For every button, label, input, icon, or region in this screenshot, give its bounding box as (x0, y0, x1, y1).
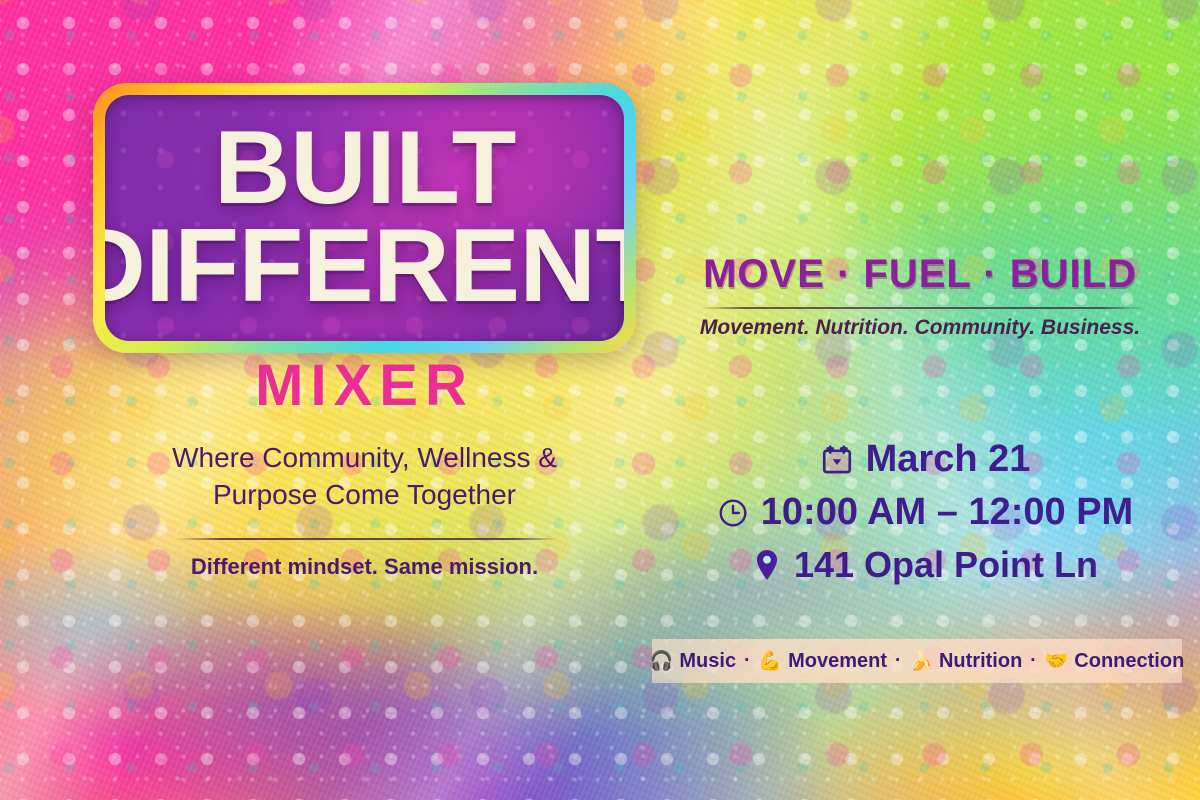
feature-label-music: Music (679, 650, 736, 673)
calendar-icon (820, 443, 854, 477)
flexed-bicep-icon: 💪 (758, 652, 782, 671)
headphones-icon: 🎧 (650, 652, 674, 671)
clock-icon (717, 497, 749, 529)
feature-label-nutrition: Nutrition (939, 650, 1022, 673)
left-subheading: Where Community, Wellness & Purpose Come… (93, 440, 636, 514)
detail-date-text: March 21 (866, 438, 1031, 481)
event-details: March 21 10:00 AM – 12:00 PM (690, 438, 1160, 586)
feature-separator-2: · (894, 650, 902, 672)
feature-bar: 🎧 Music · 💪 Movement · 🍌 Nutrition · 🤝 C… (652, 639, 1182, 683)
mixer-title: MIXER (93, 352, 636, 419)
feature-separator-1: · (743, 650, 751, 672)
right-divider (700, 307, 1146, 309)
detail-time-text: 10:00 AM – 12:00 PM (761, 491, 1133, 534)
feature-item-music: 🎧 Music (650, 650, 736, 673)
location-pin-icon (752, 548, 782, 582)
detail-row-location: 141 Opal Point Ln (752, 544, 1098, 586)
logo-badge-panel: BUILT DIFFERENT (105, 95, 624, 341)
detail-row-time: 10:00 AM – 12:00 PM (717, 491, 1133, 534)
feature-item-movement: 💪 Movement (758, 650, 887, 673)
badge-title-line-2: DIFFERENT (105, 219, 624, 315)
feature-item-connection: 🤝 Connection (1045, 650, 1185, 673)
badge-title-line-1: BUILT (214, 121, 516, 217)
left-subheading-line-2: Purpose Come Together (93, 477, 636, 514)
flyer-content: BUILT DIFFERENT MIXER Where Community, W… (0, 0, 1200, 800)
left-divider (176, 538, 558, 540)
feature-item-nutrition: 🍌 Nutrition (909, 650, 1022, 673)
detail-location-text: 141 Opal Point Ln (794, 544, 1098, 586)
banana-icon: 🍌 (909, 652, 933, 671)
event-flyer: BUILT DIFFERENT MIXER Where Community, W… (0, 0, 1200, 800)
pillars-headline: MOVE · FUEL · BUILD (690, 252, 1150, 297)
handshake-icon: 🤝 (1045, 652, 1069, 671)
left-subheading-line-1: Where Community, Wellness & (93, 440, 636, 477)
feature-label-movement: Movement (788, 650, 887, 673)
feature-separator-3: · (1029, 650, 1037, 672)
left-tagline: Different mindset. Same mission. (93, 554, 636, 580)
feature-label-connection: Connection (1074, 650, 1184, 673)
pillars-subtitle: Movement. Nutrition. Community. Business… (690, 316, 1150, 340)
detail-row-date: March 21 (820, 438, 1031, 481)
logo-badge: BUILT DIFFERENT (93, 83, 636, 353)
